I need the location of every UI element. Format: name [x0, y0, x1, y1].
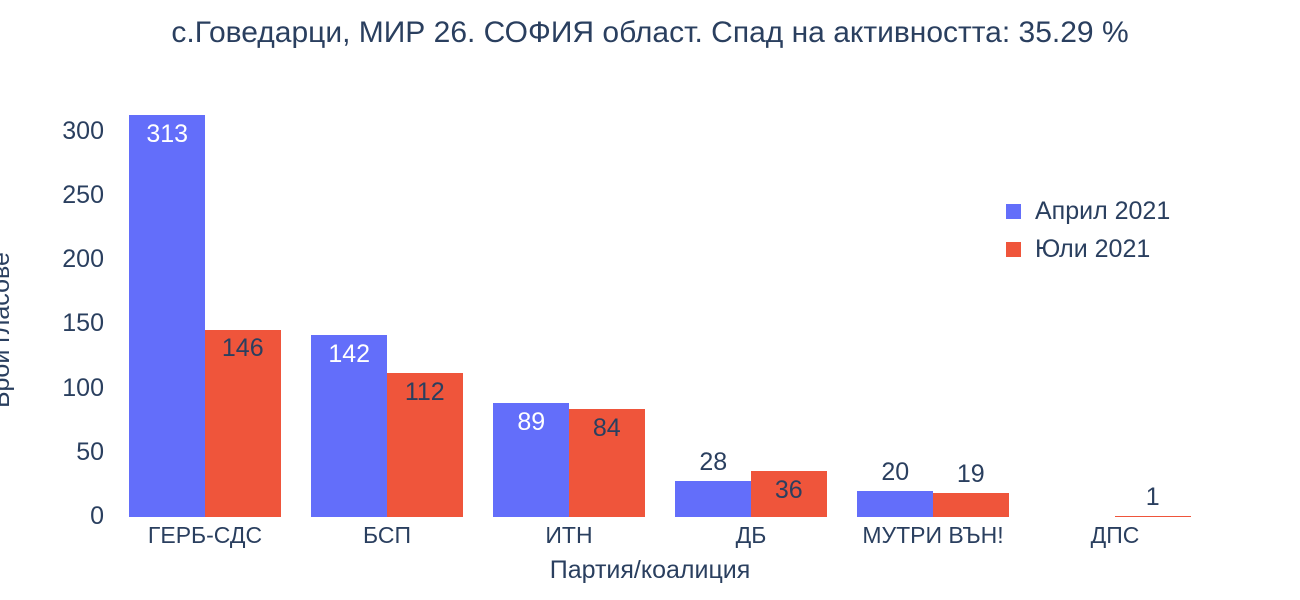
- x-tick-label-5[interactable]: ДПС: [1091, 522, 1140, 549]
- legend-swatch-april-icon: [1006, 204, 1021, 219]
- x-tick-label-2[interactable]: ИТН: [545, 522, 592, 549]
- bar-value-label: 142: [328, 342, 370, 367]
- bar-chart: с.Говедарци, МИР 26. СОФИЯ област. Спад …: [0, 0, 1300, 600]
- plot-area: 3131461421128984283620191: [114, 110, 1206, 517]
- chart-legend: Април 2021 Юли 2021: [1006, 192, 1286, 268]
- x-tick-label-4[interactable]: МУТРИ ВЪН!: [862, 522, 1003, 549]
- bar-value-label: 112: [405, 380, 445, 405]
- y-tick-label: 0: [0, 504, 104, 529]
- y-tick-label: 200: [0, 247, 104, 272]
- x-tick-label-3[interactable]: ДБ: [736, 522, 767, 549]
- bar-juli-5[interactable]: [1115, 516, 1191, 517]
- bar-value-label: 84: [593, 416, 621, 441]
- bar-value-label: 28: [699, 450, 727, 475]
- bar-value-label: 20: [881, 460, 909, 485]
- bar-value-label: 19: [957, 462, 985, 487]
- legend-item-juli[interactable]: Юли 2021: [1006, 230, 1286, 268]
- bar-april-4[interactable]: [857, 491, 933, 517]
- y-tick-label: 150: [0, 311, 104, 336]
- y-tick-label: 250: [0, 183, 104, 208]
- bar-value-label: 89: [517, 410, 545, 435]
- legend-label-april: Април 2021: [1035, 197, 1170, 226]
- bar-value-label: 36: [775, 478, 803, 503]
- legend-item-april[interactable]: Април 2021: [1006, 192, 1286, 230]
- x-tick-label-1[interactable]: БСП: [363, 522, 411, 549]
- bar-april-3[interactable]: [675, 481, 751, 517]
- legend-swatch-juli-icon: [1006, 242, 1021, 257]
- chart-title: с.Говедарци, МИР 26. СОФИЯ област. Спад …: [0, 16, 1300, 50]
- bar-value-label: 313: [146, 122, 188, 147]
- bar-value-label: 1: [1146, 485, 1160, 510]
- y-tick-label: 50: [0, 440, 104, 465]
- y-tick-label: 100: [0, 376, 104, 401]
- bar-juli-4[interactable]: [933, 493, 1009, 517]
- x-tick-label-0[interactable]: ГЕРБ-СДС: [148, 522, 262, 549]
- x-axis-title: Партия/коалиция: [0, 556, 1300, 585]
- legend-label-juli: Юли 2021: [1035, 235, 1150, 264]
- bar-april-0[interactable]: [129, 115, 205, 517]
- y-tick-label: 300: [0, 119, 104, 144]
- bar-value-label: 146: [222, 336, 264, 361]
